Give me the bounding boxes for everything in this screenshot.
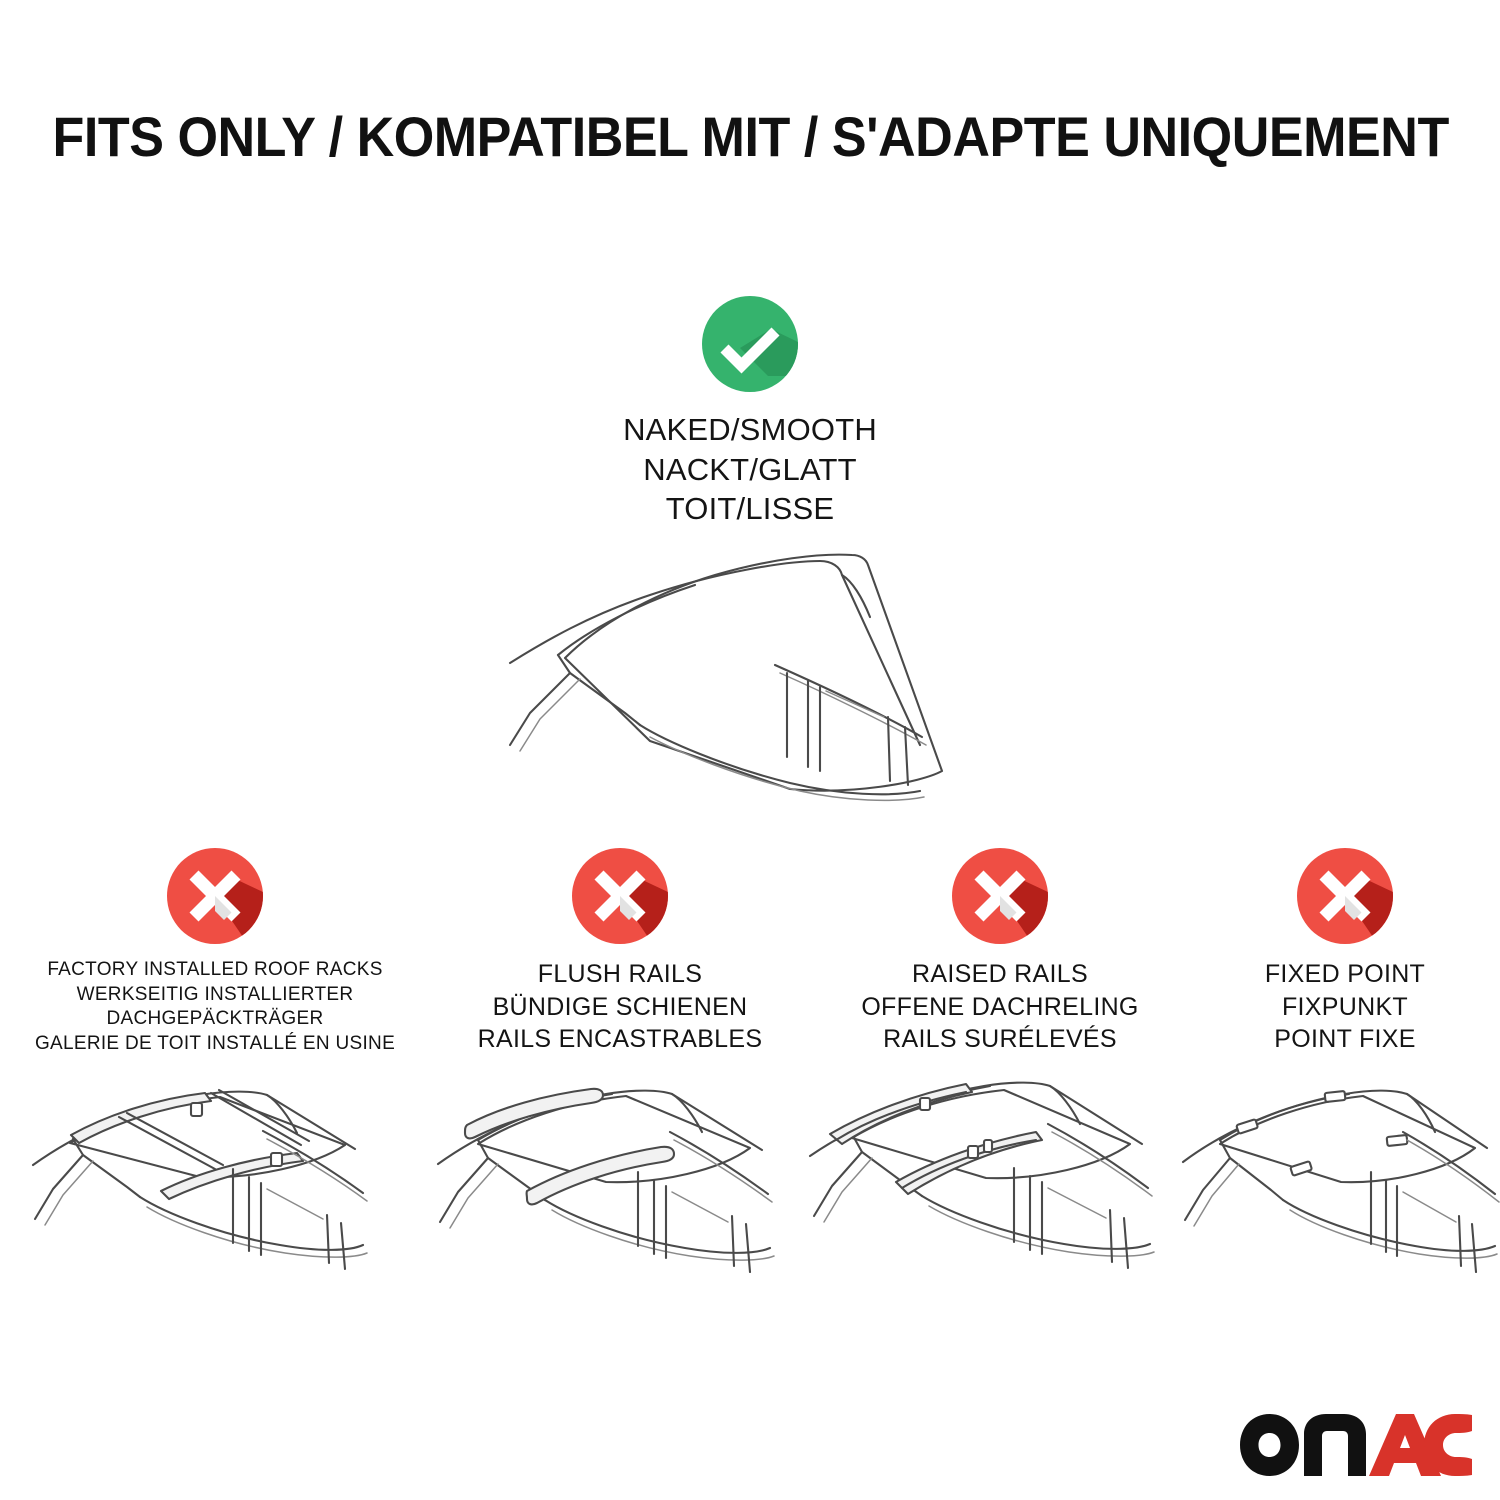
caption-line: TOIT/LISSE bbox=[623, 489, 877, 529]
caption-line: FIXED POINT bbox=[1265, 958, 1425, 991]
caption-line: FLUSH RAILS bbox=[478, 958, 763, 991]
incompatible-caption: RAISED RAILS OFFENE DACHRELING RAILS SUR… bbox=[861, 958, 1138, 1056]
incompatible-item-fixed-point: FIXED POINT FIXPUNKT POINT FIXE bbox=[1190, 848, 1500, 1301]
fitment-infographic: FITS ONLY / KOMPATIBEL MIT / S'ADAPTE UN… bbox=[0, 0, 1500, 1500]
caption-line: DACHGEPÄCKTRÄGER bbox=[35, 1007, 395, 1032]
caption-line: WERKSEITIG INSTALLIERTER bbox=[35, 983, 395, 1008]
caption-line: GALERIE DE TOIT INSTALLÉ EN USINE bbox=[35, 1032, 395, 1057]
caption-line: BÜNDIGE SCHIENEN bbox=[478, 991, 763, 1024]
logo-letter-o bbox=[1240, 1414, 1299, 1476]
caption-line: POINT FIXE bbox=[1265, 1023, 1425, 1056]
incompatible-section: FACTORY INSTALLED ROOF RACKS WERKSEITIG … bbox=[0, 848, 1500, 1301]
factory-roof-rack-illustration bbox=[15, 1073, 415, 1288]
naked-smooth-roof-illustration bbox=[490, 545, 1010, 805]
caption-line: FIXPUNKT bbox=[1265, 991, 1425, 1024]
caption-line: OFFENE DACHRELING bbox=[861, 991, 1138, 1024]
check-icon bbox=[702, 296, 798, 392]
caption-line: RAISED RAILS bbox=[861, 958, 1138, 991]
fixed-point-illustration bbox=[1175, 1086, 1500, 1301]
caption-line: NACKT/GLATT bbox=[623, 450, 877, 490]
cross-icon bbox=[952, 848, 1048, 944]
flush-rails-illustration bbox=[420, 1078, 820, 1293]
caption-line: RAILS SURÉLEVÉS bbox=[861, 1023, 1138, 1056]
incompatible-item-factory-roof-racks: FACTORY INSTALLED ROOF RACKS WERKSEITIG … bbox=[0, 848, 430, 1288]
cross-icon bbox=[167, 848, 263, 944]
incompatible-caption: FIXED POINT FIXPUNKT POINT FIXE bbox=[1265, 958, 1425, 1056]
logo-letter-m bbox=[1304, 1414, 1366, 1476]
compatible-caption: NAKED/SMOOTH NACKT/GLATT TOIT/LISSE bbox=[623, 410, 877, 529]
caption-line: FACTORY INSTALLED ROOF RACKS bbox=[35, 958, 395, 983]
caption-line: NAKED/SMOOTH bbox=[623, 410, 877, 450]
incompatible-caption: FLUSH RAILS BÜNDIGE SCHIENEN RAILS ENCAS… bbox=[478, 958, 763, 1056]
raised-rails-illustration bbox=[800, 1078, 1200, 1293]
compatible-section: NAKED/SMOOTH NACKT/GLATT TOIT/LISSE bbox=[0, 296, 1500, 805]
page-title: FITS ONLY / KOMPATIBEL MIT / S'ADAPTE UN… bbox=[53, 104, 1448, 169]
incompatible-item-raised-rails: RAISED RAILS OFFENE DACHRELING RAILS SUR… bbox=[810, 848, 1190, 1293]
cross-icon bbox=[572, 848, 668, 944]
incompatible-item-flush-rails: FLUSH RAILS BÜNDIGE SCHIENEN RAILS ENCAS… bbox=[430, 848, 810, 1293]
omac-logo bbox=[1238, 1412, 1474, 1478]
caption-line: RAILS ENCASTRABLES bbox=[478, 1023, 763, 1056]
cross-icon bbox=[1297, 848, 1393, 944]
incompatible-caption: FACTORY INSTALLED ROOF RACKS WERKSEITIG … bbox=[35, 958, 395, 1057]
